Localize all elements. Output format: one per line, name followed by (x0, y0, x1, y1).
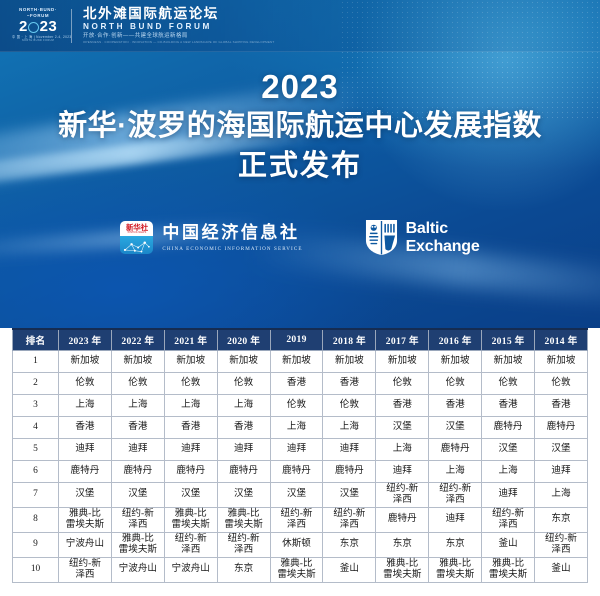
baltic-shield-icon (365, 219, 398, 256)
table-cell: 伦敦 (111, 372, 164, 394)
table-row: 1新加坡新加坡新加坡新加坡新加坡新加坡新加坡新加坡新加坡新加坡 (13, 350, 588, 372)
forum-logo-line4: NORTH BUND FORUM (12, 40, 64, 43)
table-cell: 伦敦 (270, 394, 323, 416)
xinhua-network-graphic (120, 237, 153, 255)
row-rank: 9 (13, 532, 59, 557)
xinhua-mark-cn: 新华社 (126, 224, 148, 232)
table-cell: 上海 (111, 394, 164, 416)
table-cell: 新加坡 (164, 350, 217, 372)
table-cell: 香港 (217, 416, 270, 438)
table-cell: 东京 (217, 557, 270, 582)
table-cell: 上海 (59, 394, 112, 416)
table-cell: 新加坡 (111, 350, 164, 372)
table-cell: 香港 (270, 372, 323, 394)
table-header-row: 排名 2023 年 2022 年 2021 年 2020 年 2019 2018… (13, 329, 588, 350)
table-cell: 纽约-新泽西 (535, 532, 588, 557)
table-cell: 新加坡 (59, 350, 112, 372)
table-cell: 雅典-比雷埃夫斯 (164, 507, 217, 532)
table-cell: 新加坡 (429, 350, 482, 372)
table-cell: 鹿特丹 (270, 460, 323, 482)
baltic-line1: Baltic (406, 221, 480, 237)
table-cell: 汉堡 (111, 482, 164, 507)
table-cell: 宁波舟山 (59, 532, 112, 557)
table-row: 2伦敦伦敦伦敦伦敦香港香港伦敦伦敦伦敦伦敦 (13, 372, 588, 394)
table-cell: 东京 (376, 532, 429, 557)
ceis-text: 中国经济信息社 CHINA ECONOMIC INFORMATION SERVI… (162, 224, 302, 252)
table-row: 6鹿特丹鹿特丹鹿特丹鹿特丹鹿特丹鹿特丹迪拜上海上海迪拜 (13, 460, 588, 482)
row-rank: 1 (13, 350, 59, 372)
table-cell: 迪拜 (376, 460, 429, 482)
table-cell: 上海 (429, 460, 482, 482)
column-header-rank: 排名 (13, 329, 59, 350)
table-row: 9宁波舟山雅典-比雷埃夫斯纽约-新泽西纽约-新泽西休斯顿东京东京东京釜山纽约-新… (13, 532, 588, 557)
column-header-2021: 2021 年 (164, 329, 217, 350)
column-header-2015: 2015 年 (482, 329, 535, 350)
table-cell: 伦敦 (376, 372, 429, 394)
table-cell: 汉堡 (59, 482, 112, 507)
forum-logo-year: 2 23 (12, 19, 64, 34)
ranking-table-wrap: 排名 2023 年 2022 年 2021 年 2020 年 2019 2018… (0, 328, 600, 583)
table-cell: 迪拜 (323, 438, 376, 460)
table-cell: 鹿特丹 (376, 507, 429, 532)
column-header-2022: 2022 年 (111, 329, 164, 350)
table-cell: 东京 (323, 532, 376, 557)
table-cell: 香港 (482, 394, 535, 416)
table-cell: 雅典-比雷埃夫斯 (429, 557, 482, 582)
table-row: 8雅典-比雷埃夫斯纽约-新泽西雅典-比雷埃夫斯雅典-比雷埃夫斯纽约-新泽西纽约-… (13, 507, 588, 532)
table-cell: 纽约-新泽西 (111, 507, 164, 532)
table-cell: 迪拜 (59, 438, 112, 460)
column-header-2016: 2016 年 (429, 329, 482, 350)
table-cell: 鹿特丹 (217, 460, 270, 482)
table-cell: 迪拜 (429, 507, 482, 532)
table-cell: 上海 (482, 460, 535, 482)
table-cell: 迪拜 (270, 438, 323, 460)
baltic-line2: Exchange (406, 239, 480, 255)
forum-logo-line1: NORTH·BUND· (12, 8, 64, 12)
table-cell: 汉堡 (535, 438, 588, 460)
table-cell: 上海 (217, 394, 270, 416)
table-cell: 迪拜 (217, 438, 270, 460)
table-body: 1新加坡新加坡新加坡新加坡新加坡新加坡新加坡新加坡新加坡新加坡2伦敦伦敦伦敦伦敦… (13, 350, 588, 582)
row-rank: 4 (13, 416, 59, 438)
table-cell: 伦敦 (429, 372, 482, 394)
column-header-2020: 2020 年 (217, 329, 270, 350)
table-cell: 香港 (323, 372, 376, 394)
table-cell: 雅典-比雷埃夫斯 (270, 557, 323, 582)
north-bund-forum-logo: NORTH·BUND· ~FORUM 2 23 中 国 · 上 海 | Nove… (12, 8, 64, 43)
table-cell: 新加坡 (270, 350, 323, 372)
table-cell: 新加坡 (217, 350, 270, 372)
table-cell: 上海 (323, 416, 376, 438)
table-cell: 鹿特丹 (59, 460, 112, 482)
table-cell: 纽约-新泽西 (59, 557, 112, 582)
row-rank: 10 (13, 557, 59, 582)
table-cell: 新加坡 (376, 350, 429, 372)
row-rank: 7 (13, 482, 59, 507)
table-cell: 香港 (59, 416, 112, 438)
row-rank: 8 (13, 507, 59, 532)
globe-icon (28, 22, 39, 33)
table-cell: 上海 (164, 394, 217, 416)
table-cell: 伦敦 (323, 394, 376, 416)
table-cell: 纽约-新泽西 (376, 482, 429, 507)
forum-year-left: 2 (19, 19, 28, 34)
hero-title-block: 2023 新华·波罗的海国际航运中心发展指数 正式发布 (0, 68, 600, 185)
table-cell: 纽约-新泽西 (217, 532, 270, 557)
table-cell: 釜山 (535, 557, 588, 582)
baltic-exchange-logo-group: Baltic Exchange (365, 219, 480, 256)
table-cell: 纽约-新泽西 (270, 507, 323, 532)
table-cell: 鹿特丹 (482, 416, 535, 438)
table-cell: 上海 (535, 482, 588, 507)
table-cell: 迪拜 (164, 438, 217, 460)
shipping-centre-ranking-table: 排名 2023 年 2022 年 2021 年 2020 年 2019 2018… (12, 328, 588, 583)
ceis-name-en: CHINA ECONOMIC INFORMATION SERVICE (162, 246, 302, 252)
partner-logos: 新华社 XINHUA NEWS (0, 219, 600, 256)
table-cell: 汉堡 (429, 416, 482, 438)
table-cell: 伦敦 (535, 372, 588, 394)
forum-year-right: 23 (40, 19, 57, 34)
table-cell: 香港 (376, 394, 429, 416)
table-cell: 新加坡 (323, 350, 376, 372)
table-cell: 新加坡 (482, 350, 535, 372)
header-divider (71, 9, 72, 43)
table-cell: 伦敦 (217, 372, 270, 394)
table-cell: 香港 (111, 416, 164, 438)
table-cell: 汉堡 (376, 416, 429, 438)
table-row: 10纽约-新泽西宁波舟山宁波舟山东京雅典-比雷埃夫斯釜山雅典-比雷埃夫斯雅典-比… (13, 557, 588, 582)
table-row: 7汉堡汉堡汉堡汉堡汉堡汉堡纽约-新泽西纽约-新泽西迪拜上海 (13, 482, 588, 507)
table-cell: 汉堡 (164, 482, 217, 507)
table-cell: 纽约-新泽西 (429, 482, 482, 507)
row-rank: 6 (13, 460, 59, 482)
table-cell: 釜山 (482, 532, 535, 557)
table-cell: 纽约-新泽西 (164, 532, 217, 557)
table-cell: 新加坡 (535, 350, 588, 372)
table-cell: 伦敦 (164, 372, 217, 394)
table-cell: 鹿特丹 (429, 438, 482, 460)
xinhua-news-icon: 新华社 XINHUA NEWS (120, 221, 153, 254)
hero-banner: NORTH·BUND· ~FORUM 2 23 中 国 · 上 海 | Nove… (0, 0, 600, 328)
table-cell: 伦敦 (59, 372, 112, 394)
forum-brand-en: NORTH BUND FORUM (83, 23, 274, 32)
table-cell: 上海 (376, 438, 429, 460)
table-cell: 伦敦 (482, 372, 535, 394)
table-cell: 东京 (429, 532, 482, 557)
table-cell: 纽约-新泽西 (482, 507, 535, 532)
table-cell: 鹿特丹 (111, 460, 164, 482)
column-header-2018: 2018 年 (323, 329, 376, 350)
table-cell: 汉堡 (482, 438, 535, 460)
column-header-2017: 2017 年 (376, 329, 429, 350)
table-cell: 雅典-比雷埃夫斯 (59, 507, 112, 532)
forum-header-bar: NORTH·BUND· ~FORUM 2 23 中 国 · 上 海 | Nove… (0, 0, 600, 52)
hero-title: 新华·波罗的海国际航运中心发展指数 (0, 107, 600, 146)
table-cell: 迪拜 (535, 460, 588, 482)
table-cell: 上海 (270, 416, 323, 438)
table-cell: 纽约-新泽西 (323, 507, 376, 532)
xinhua-mark-en: XINHUA NEWS (126, 232, 148, 234)
row-rank: 5 (13, 438, 59, 460)
forum-brand-subtitle-en: OPENNESS · COOPERATION · INNOVATION — CO… (83, 41, 274, 44)
ceis-name-cn: 中国经济信息社 (162, 224, 302, 243)
baltic-exchange-text: Baltic Exchange (406, 221, 480, 255)
column-header-2014: 2014 年 (535, 329, 588, 350)
table-cell: 鹿特丹 (323, 460, 376, 482)
row-rank: 3 (13, 394, 59, 416)
table-cell: 宁波舟山 (164, 557, 217, 582)
table-cell: 釜山 (323, 557, 376, 582)
hero-year: 2023 (0, 68, 600, 107)
table-cell: 东京 (535, 507, 588, 532)
row-rank: 2 (13, 372, 59, 394)
table-cell: 雅典-比雷埃夫斯 (111, 532, 164, 557)
table-cell: 香港 (429, 394, 482, 416)
table-cell: 香港 (535, 394, 588, 416)
table-cell: 鹿特丹 (164, 460, 217, 482)
hero-subtitle: 正式发布 (0, 148, 600, 186)
table-cell: 迪拜 (482, 482, 535, 507)
forum-brand-cn: 北外滩国际航运论坛 (83, 7, 274, 21)
table-cell: 雅典-比雷埃夫斯 (217, 507, 270, 532)
column-header-2023: 2023 年 (59, 329, 112, 350)
table-row: 3上海上海上海上海伦敦伦敦香港香港香港香港 (13, 394, 588, 416)
table-row: 4香港香港香港香港上海上海汉堡汉堡鹿特丹鹿特丹 (13, 416, 588, 438)
table-cell: 汉堡 (217, 482, 270, 507)
table-cell: 汉堡 (323, 482, 376, 507)
table-row: 5迪拜迪拜迪拜迪拜迪拜迪拜上海鹿特丹汉堡汉堡 (13, 438, 588, 460)
forum-brand-text: 北外滩国际航运论坛 NORTH BUND FORUM 开放·合作·创新——共建全… (83, 7, 274, 45)
table-cell: 香港 (164, 416, 217, 438)
table-cell: 雅典-比雷埃夫斯 (376, 557, 429, 582)
table-cell: 雅典-比雷埃夫斯 (482, 557, 535, 582)
xinhua-mark-top: 新华社 XINHUA NEWS (120, 221, 153, 236)
column-header-2019: 2019 (270, 329, 323, 350)
table-cell: 鹿特丹 (535, 416, 588, 438)
table-cell: 休斯顿 (270, 532, 323, 557)
ceis-logo-group: 新华社 XINHUA NEWS (120, 221, 302, 254)
table-cell: 迪拜 (111, 438, 164, 460)
forum-brand-subtitle: 开放·合作·创新——共建全球航运新格局 (83, 34, 274, 40)
table-cell: 宁波舟山 (111, 557, 164, 582)
table-cell: 汉堡 (270, 482, 323, 507)
